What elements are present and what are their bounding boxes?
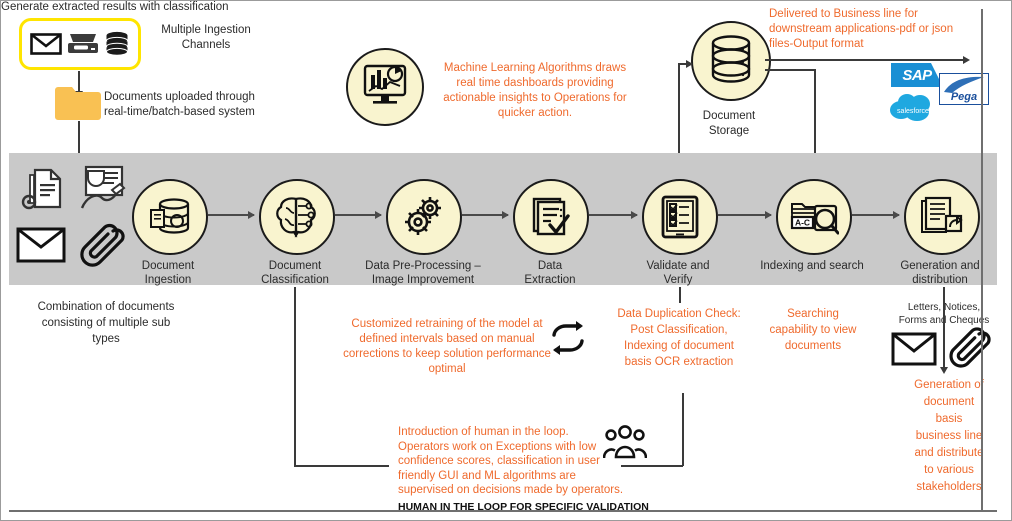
document-storage-circle: [691, 21, 771, 101]
stage2-line2: Image Improvement: [358, 273, 488, 287]
upload-note-line2: real-time/batch-based system: [104, 105, 304, 120]
delivery-note-line3: files-Output format: [769, 37, 999, 52]
connector-folder-band: [78, 121, 80, 157]
human-loop-line4: friendly GUI and ML algorithms are: [398, 469, 634, 484]
ml-note: Machine Learning Algorithms draws real t…: [425, 61, 645, 121]
stage-label-indexing-and-search: Indexing and search: [752, 259, 872, 273]
generation-line5: and distribute: [887, 445, 1011, 462]
generation-line4: business line: [887, 428, 1011, 445]
searching-line3: documents: [751, 338, 875, 354]
stage-document-classification[interactable]: [259, 179, 335, 255]
connector-stage-4-5: [718, 214, 771, 216]
salesforce-logo: salesforce: [887, 91, 939, 123]
stage3-line1: Data: [490, 259, 610, 273]
connector-stage-5-6: [852, 214, 899, 216]
connector-generation-v: [943, 287, 945, 371]
combination-note: Combination of documents consisting of m…: [11, 299, 201, 347]
brain-ai-icon: [273, 194, 321, 240]
stage-document-ingestion[interactable]: [132, 179, 208, 255]
salesforce-wordmark: salesforce: [897, 108, 929, 115]
combination-line2: consisting of multiple sub: [11, 315, 201, 331]
scanner-icon: [66, 31, 100, 57]
folder-magnifier-icon: A-C: [789, 196, 839, 238]
human-loop-line1: Introduction of human in the loop.: [398, 425, 634, 440]
database-cylinder-icon: [708, 34, 754, 89]
retraining-line3: corrections to keep solution performance: [331, 347, 563, 362]
people-group-icon: [603, 425, 647, 466]
ingestion-label-line2: Channels: [141, 38, 271, 53]
arrow-delivery: [963, 56, 970, 64]
envelope-icon-input: [16, 226, 66, 269]
ml-note-line1: Machine Learning Algorithms draws: [425, 61, 645, 76]
folder-icon: [54, 85, 102, 126]
stage5-line1: Indexing and search: [752, 259, 872, 273]
human-loop-line5: supervised on decisions made by operator…: [398, 483, 634, 498]
document-check-icon: [528, 194, 574, 240]
retraining-line4: optimal: [331, 362, 563, 377]
stage1-line2: Classification: [235, 273, 355, 287]
stage3-line2: Extraction: [490, 273, 610, 287]
connector-stage-2-3: [462, 214, 508, 216]
stage-label-data-extraction: Data Extraction: [490, 259, 610, 287]
stage2-line1: Data Pre-Processing –: [358, 259, 488, 273]
connector-storage-delivery: [765, 59, 967, 61]
ingestion-channels-label: Multiple Ingestion Channels: [141, 23, 271, 52]
hitl-connector-left-v: [294, 287, 296, 467]
stage-label-document-ingestion: Document Ingestion: [108, 259, 228, 287]
duplication-line3: Indexing of document: [607, 338, 751, 354]
refresh-loop-icon: [546, 319, 590, 364]
delivery-note-line1: Delivered to Business line for: [769, 7, 999, 22]
envelope-icon: [30, 32, 62, 56]
stage-generation-and-distribution[interactable]: [904, 179, 980, 255]
delivery-note: Delivered to Business line for downstrea…: [769, 7, 999, 52]
connector-validate-duplication: [679, 287, 681, 303]
document-storage-label: Document Storage: [669, 109, 789, 138]
human-loop-note: Introduction of human in the loop. Opera…: [398, 425, 634, 498]
right-divider: [981, 9, 983, 511]
searching-line1: Searching: [751, 306, 875, 322]
duplication-line2: Post Classification,: [607, 322, 751, 338]
storage-label-line1: Document: [669, 109, 789, 124]
stage-data-extraction[interactable]: [513, 179, 589, 255]
retraining-note: Customized retraining of the model at de…: [331, 317, 563, 377]
stage-label-validate-and-verify: Validate and Verify: [618, 259, 738, 287]
hitl-connector-right-v: [682, 393, 684, 466]
connector-stage-3-4: [589, 214, 637, 216]
human-loop-caption: HUMAN IN THE LOOP FOR SPECIFIC VALIDATIO…: [398, 500, 698, 515]
arrow-into-storage: [686, 60, 693, 68]
combination-line1: Combination of documents: [11, 299, 201, 315]
delivery-note-line2: downstream applications-pdf or json: [769, 22, 999, 37]
paperclip-icon-output: [947, 327, 991, 376]
stage-label-data-preprocessing: Data Pre-Processing – Image Improvement: [358, 259, 488, 287]
retraining-line2: defined intervals based on manual: [331, 332, 563, 347]
ml-note-line2: real time dashboards providing: [425, 76, 645, 91]
searching-line2: capability to view: [751, 322, 875, 338]
gears-icon: [400, 194, 448, 240]
retraining-line1: Customized retraining of the model at: [331, 317, 563, 332]
svg-text:A-C: A-C: [795, 218, 810, 228]
stage1-line1: Document: [235, 259, 355, 273]
connector-stage-0-1: [208, 214, 254, 216]
connector-storage-indexing-h: [765, 69, 815, 71]
workflow-diagram: Multiple Ingestion Channels Documents up…: [0, 0, 1012, 521]
duplication-note: Data Duplication Check: Post Classificat…: [607, 306, 751, 370]
signed-contract-icon: [74, 164, 128, 219]
database-document-icon: [147, 194, 193, 240]
ingestion-channels-box: [19, 18, 141, 70]
stage-validate-and-verify[interactable]: [642, 179, 718, 255]
generation-line6: to various: [887, 462, 1011, 479]
checklist-tablet-icon: [658, 194, 702, 240]
ml-note-line4: quicker action.: [425, 106, 645, 121]
stage0-line1: Document: [108, 259, 228, 273]
ml-dashboard-circle: [346, 48, 424, 126]
upload-note: Documents uploaded through real-time/bat…: [104, 90, 304, 119]
duplication-line4: basis OCR extraction: [607, 354, 751, 370]
generation-line2: document: [887, 394, 1011, 411]
human-loop-line2: Operators work on Exceptions with low: [398, 440, 634, 455]
generation-line7: stakeholders: [887, 479, 1011, 496]
upload-note-line1: Documents uploaded through: [104, 90, 304, 105]
documents-share-icon: [919, 195, 965, 239]
bottom-divider: [9, 510, 997, 512]
sap-logo: SAP: [891, 63, 943, 87]
dashboard-chart-icon: [360, 61, 410, 114]
database-icon: [104, 31, 130, 57]
envelope-icon-output: [891, 331, 937, 372]
connector-stage-1-2: [335, 214, 381, 216]
document-gear-icon: [19, 166, 67, 219]
band-title: Generate extracted results with classifi…: [1, 1, 301, 13]
stage-indexing-and-search[interactable]: A-C: [776, 179, 852, 255]
storage-label-line2: Storage: [669, 124, 789, 139]
stage0-line2: Ingestion: [108, 273, 228, 287]
generation-line1: Generation of: [887, 377, 1011, 394]
ml-note-line3: actionable insights to Operations for: [425, 91, 645, 106]
stage-label-document-classification: Document Classification: [235, 259, 355, 287]
ingestion-label-line1: Multiple Ingestion: [141, 23, 271, 38]
generation-line3: basis: [887, 411, 1011, 428]
stage-data-preprocessing[interactable]: [386, 179, 462, 255]
searching-note: Searching capability to view documents: [751, 306, 875, 354]
duplication-line1: Data Duplication Check:: [607, 306, 751, 322]
generation-note: Generation of document basis business li…: [887, 377, 1011, 496]
hitl-connector-bottom-left-h: [294, 465, 389, 467]
human-loop-line3: confidence scores, classification in use…: [398, 454, 634, 469]
stage4-line2: Verify: [618, 273, 738, 287]
combination-line3: types: [11, 331, 201, 347]
stage4-line1: Validate and: [618, 259, 738, 273]
sap-logo-text: SAP: [902, 67, 931, 84]
